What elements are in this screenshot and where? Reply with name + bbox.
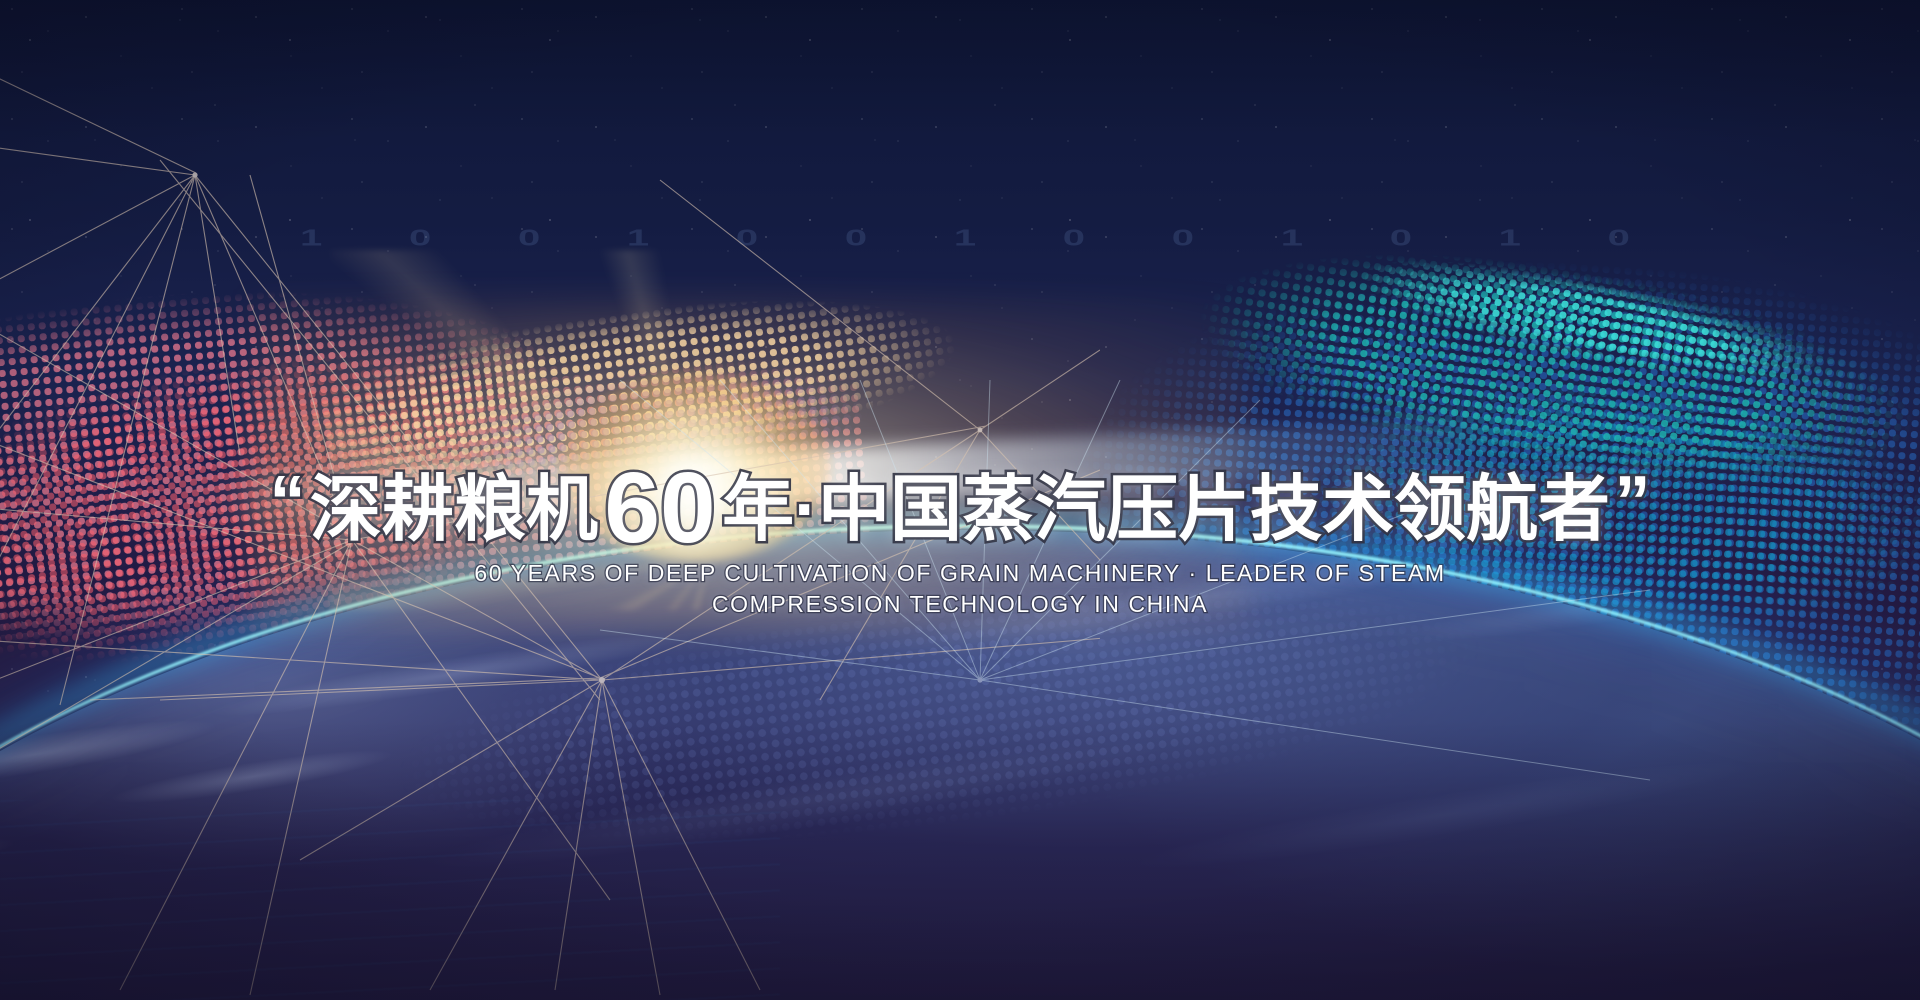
binary-digit: 1 [1281, 225, 1303, 251]
binary-digit: 1 [300, 225, 322, 251]
banner-canvas: 1 0 0 1 0 0 1 0 0 1 0 1 0 [0, 0, 1920, 1000]
binary-digit: 1 [954, 225, 976, 251]
sun-core-glow [560, 372, 830, 562]
headline-number: 60 [604, 460, 715, 556]
binary-digits-band: 1 0 0 1 0 0 1 0 0 1 0 1 0 [300, 225, 1630, 251]
halftone-wave-cyan-crest [1262, 148, 1918, 512]
earth-globe [0, 530, 1920, 1000]
binary-digit: 0 [1390, 225, 1412, 251]
headline-close-quote: ” [1615, 454, 1651, 550]
binary-digit: 0 [845, 225, 867, 251]
headline-open-quote: “ [269, 454, 305, 550]
binary-digit: 0 [736, 225, 758, 251]
binary-digit: 0 [1608, 225, 1630, 251]
headline-part-1: 深耕粮机 [310, 462, 598, 558]
binary-digit: 0 [1063, 225, 1085, 251]
binary-digit: 0 [409, 225, 431, 251]
binary-digit: 0 [1172, 225, 1194, 251]
sun-lens-flare [169, 418, 1490, 530]
binary-digit: 1 [627, 225, 649, 251]
binary-digit: 1 [1499, 225, 1521, 251]
binary-digit: 0 [518, 225, 540, 251]
